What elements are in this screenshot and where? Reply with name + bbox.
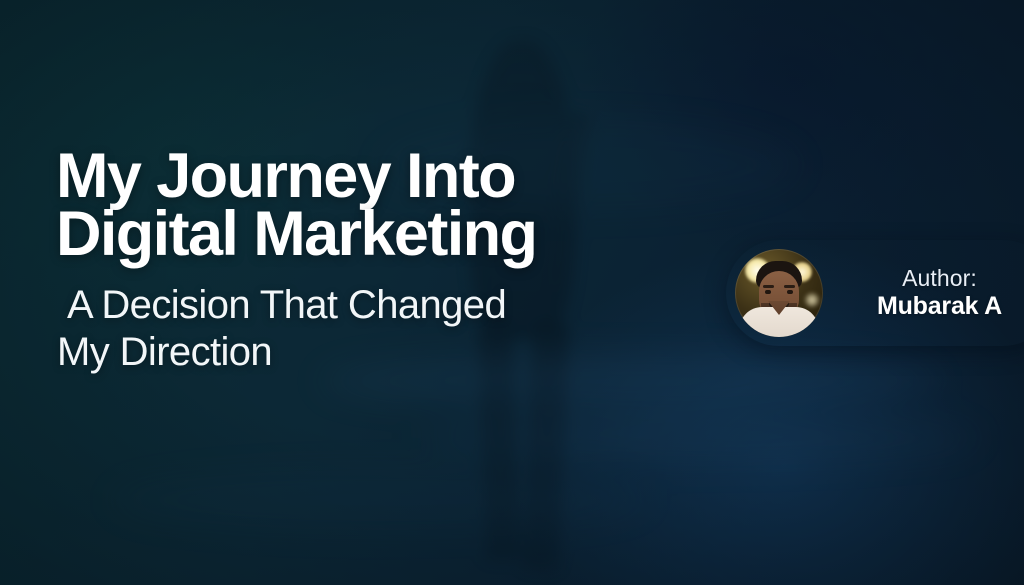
author-label: Author: [841, 266, 1024, 292]
avatar-eyebrow-left [763, 285, 774, 288]
author-badge[interactable]: Author: Mubarak A [726, 240, 1024, 346]
subheadline-line-2: My Direction [56, 329, 716, 376]
avatar-eyebrow-right [784, 285, 795, 288]
author-name: Mubarak A [841, 292, 1024, 320]
page-subtitle: A Decision That Changed My Direction [56, 282, 716, 376]
headline-line-2: Digital Marketing [56, 206, 716, 264]
page-title: My Journey Into Digital Marketing [56, 148, 716, 264]
avatar-eye-left [765, 290, 771, 294]
avatar-bokeh-light-3 [805, 293, 819, 307]
avatar-eye-right [787, 290, 793, 294]
banner-text-block: My Journey Into Digital Marketing A Deci… [56, 148, 716, 376]
avatar [735, 249, 823, 337]
subheadline-line-1: A Decision That Changed [56, 282, 716, 329]
author-badge-text: Author: Mubarak A [841, 266, 1024, 320]
banner-canvas: My Journey Into Digital Marketing A Deci… [0, 0, 1024, 585]
